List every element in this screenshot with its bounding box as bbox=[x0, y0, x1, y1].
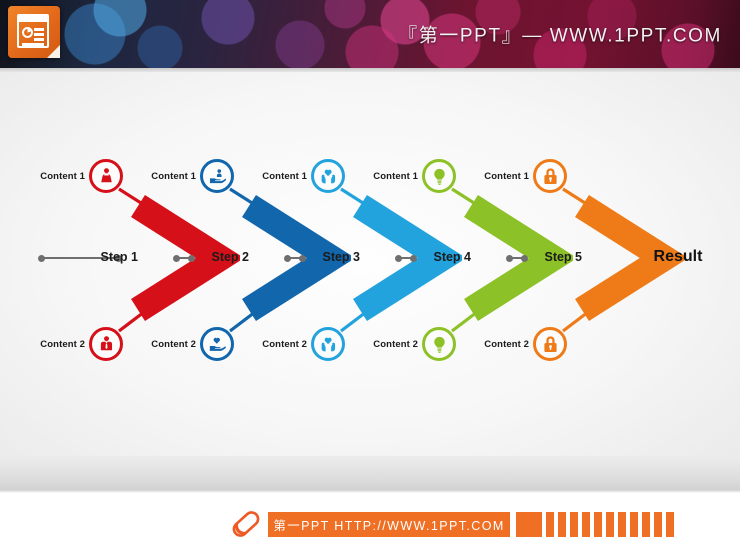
connector-3-4 bbox=[395, 253, 417, 263]
banner-url-text: 『第一PPT』— WWW.1PPT.COM bbox=[398, 21, 722, 48]
hand-holding-heart-icon bbox=[208, 335, 227, 354]
icon-circle-top-2[interactable] bbox=[200, 159, 234, 193]
process-diagram: Content 1Content 2Step 1Content 1Content… bbox=[0, 72, 740, 490]
icon-circle-top-4[interactable] bbox=[422, 159, 456, 193]
footer-divider bbox=[0, 490, 740, 493]
hands-holding-heart-icon bbox=[319, 335, 338, 354]
step-label-3: Step 3 bbox=[312, 250, 360, 264]
result-label: Result bbox=[654, 248, 703, 266]
content-label-top-1: Content 1 bbox=[33, 171, 85, 182]
step-label-5: Step 5 bbox=[534, 250, 582, 264]
connector-4-5 bbox=[506, 253, 528, 263]
orange-pill-icon bbox=[228, 507, 264, 541]
icon-circle-top-1[interactable] bbox=[89, 159, 123, 193]
slide-body: Content 1Content 2Step 1Content 1Content… bbox=[0, 72, 740, 490]
lightbulb-icon bbox=[430, 167, 449, 186]
step-label-2: Step 2 bbox=[201, 250, 249, 264]
step-label-1: Step 1 bbox=[90, 250, 138, 264]
icon-circle-top-3[interactable] bbox=[311, 159, 345, 193]
connector-2-3 bbox=[284, 253, 306, 263]
content-label-top-5: Content 1 bbox=[477, 171, 529, 182]
top-banner: 『第一PPT』— WWW.1PPT.COM bbox=[0, 0, 740, 68]
content-label-top-3: Content 1 bbox=[255, 171, 307, 182]
content-label-bottom-2: Content 2 bbox=[144, 339, 196, 350]
male-person-tie-icon bbox=[97, 335, 116, 354]
hands-holding-heart-icon bbox=[319, 167, 338, 186]
content-label-top-2: Content 1 bbox=[144, 171, 196, 182]
content-label-bottom-5: Content 2 bbox=[477, 339, 529, 350]
hand-holding-person-icon bbox=[208, 167, 227, 186]
icon-circle-top-5[interactable] bbox=[533, 159, 567, 193]
padlock-icon bbox=[541, 335, 560, 354]
connector-1-2 bbox=[173, 253, 195, 263]
step-label-4: Step 4 bbox=[423, 250, 471, 264]
icon-circle-bottom-5[interactable] bbox=[533, 327, 567, 361]
icon-circle-bottom-4[interactable] bbox=[422, 327, 456, 361]
female-person-icon bbox=[97, 167, 116, 186]
content-label-bottom-1: Content 2 bbox=[33, 339, 85, 350]
powerpoint-document-icon bbox=[8, 6, 60, 58]
padlock-icon bbox=[541, 167, 560, 186]
slide-canvas: 『第一PPT』— WWW.1PPT.COM Content 1Content 2… bbox=[0, 0, 740, 555]
lightbulb-icon bbox=[430, 335, 449, 354]
icon-circle-bottom-3[interactable] bbox=[311, 327, 345, 361]
content-label-bottom-3: Content 2 bbox=[255, 339, 307, 350]
content-label-top-4: Content 1 bbox=[366, 171, 418, 182]
icon-circle-bottom-1[interactable] bbox=[89, 327, 123, 361]
footer-url-text: 第一PPT HTTP://WWW.1PPT.COM bbox=[268, 512, 510, 537]
footer-tick-bars bbox=[516, 512, 674, 537]
icon-circle-bottom-2[interactable] bbox=[200, 327, 234, 361]
content-label-bottom-4: Content 2 bbox=[366, 339, 418, 350]
